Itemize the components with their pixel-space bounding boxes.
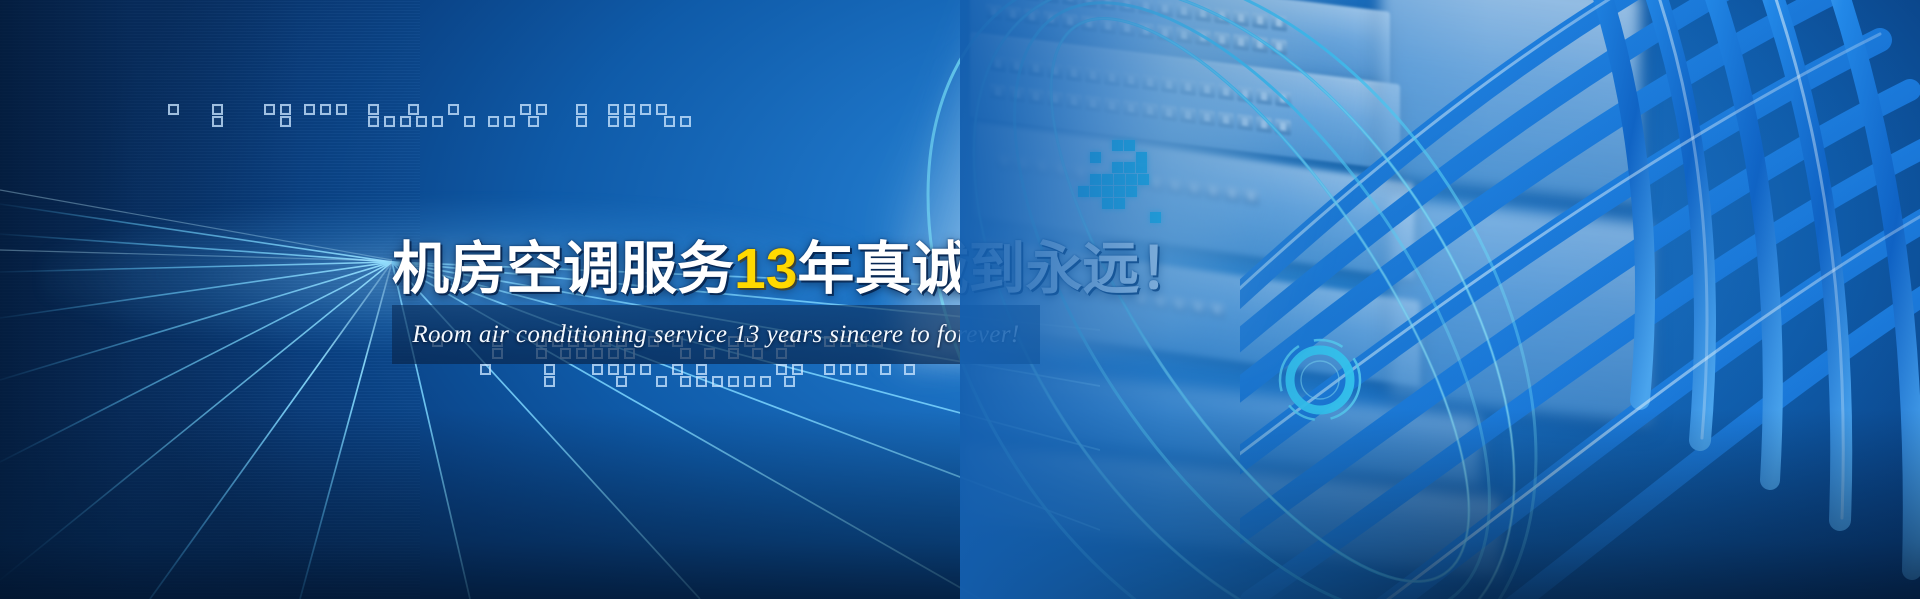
pixel-square [608, 104, 619, 115]
pixel-square [212, 116, 223, 127]
pixel-square [760, 376, 771, 387]
pixel-square [608, 116, 619, 127]
pixel-square [336, 104, 347, 115]
pixel-square [576, 104, 587, 115]
pixel-square [776, 364, 787, 375]
pixel-square [448, 104, 459, 115]
pixel-square [880, 364, 891, 375]
promo-banner: 机房空调服务13年真诚到永远！ Room air conditioning se… [0, 0, 1920, 599]
pixel-square [616, 376, 627, 387]
pixel-square [792, 364, 803, 375]
pixel-square [520, 104, 531, 115]
subtitle-text: Room air conditioning service 13 years s… [392, 305, 1040, 364]
pixel-square [576, 116, 587, 127]
server-rack-photo [960, 0, 1920, 599]
pixel-square [368, 116, 379, 127]
pixel-square [280, 104, 291, 115]
pixel-square [592, 364, 603, 375]
pixel-square [384, 116, 395, 127]
pixel-square [656, 376, 667, 387]
headline-number: 13 [734, 237, 797, 301]
pixel-square [504, 116, 515, 127]
pixel-square [608, 364, 619, 375]
pixel-square-pattern-top [168, 104, 728, 144]
pixel-square [640, 364, 651, 375]
pixel-square [824, 364, 835, 375]
pixel-square [432, 116, 443, 127]
pixel-square [408, 104, 419, 115]
pixel-square [624, 116, 635, 127]
pixel-square [488, 116, 499, 127]
pixel-square [400, 116, 411, 127]
pixel-square [696, 364, 707, 375]
pixel-square [320, 104, 331, 115]
pixel-square [744, 376, 755, 387]
pixel-square [656, 104, 667, 115]
pixel-square [544, 364, 555, 375]
pixel-square [672, 364, 683, 375]
pixel-square [368, 104, 379, 115]
photo-blue-tint [960, 0, 1920, 599]
pixel-square [304, 104, 315, 115]
pixel-square [904, 364, 915, 375]
pixel-square [264, 104, 275, 115]
pixel-square [680, 116, 691, 127]
pixel-square [728, 376, 739, 387]
pixel-square [664, 116, 675, 127]
subtitle-bar: Room air conditioning service 13 years s… [392, 305, 1040, 364]
pixel-square [536, 104, 547, 115]
pixel-square [416, 116, 427, 127]
pixel-square [464, 116, 475, 127]
pixel-square [544, 376, 555, 387]
pixel-square [680, 376, 691, 387]
pixel-square [280, 116, 291, 127]
pixel-square [528, 116, 539, 127]
pixel-square [856, 364, 867, 375]
pixel-square [212, 104, 223, 115]
pixel-square [480, 364, 491, 375]
pixel-square [784, 376, 795, 387]
headline-prefix: 机房空调服务 [392, 237, 734, 301]
pixel-square [640, 104, 651, 115]
pixel-square [840, 364, 851, 375]
pixel-square [624, 104, 635, 115]
pixel-square [712, 376, 723, 387]
pixel-square [168, 104, 179, 115]
pixel-square [624, 364, 635, 375]
pixel-square [696, 376, 707, 387]
